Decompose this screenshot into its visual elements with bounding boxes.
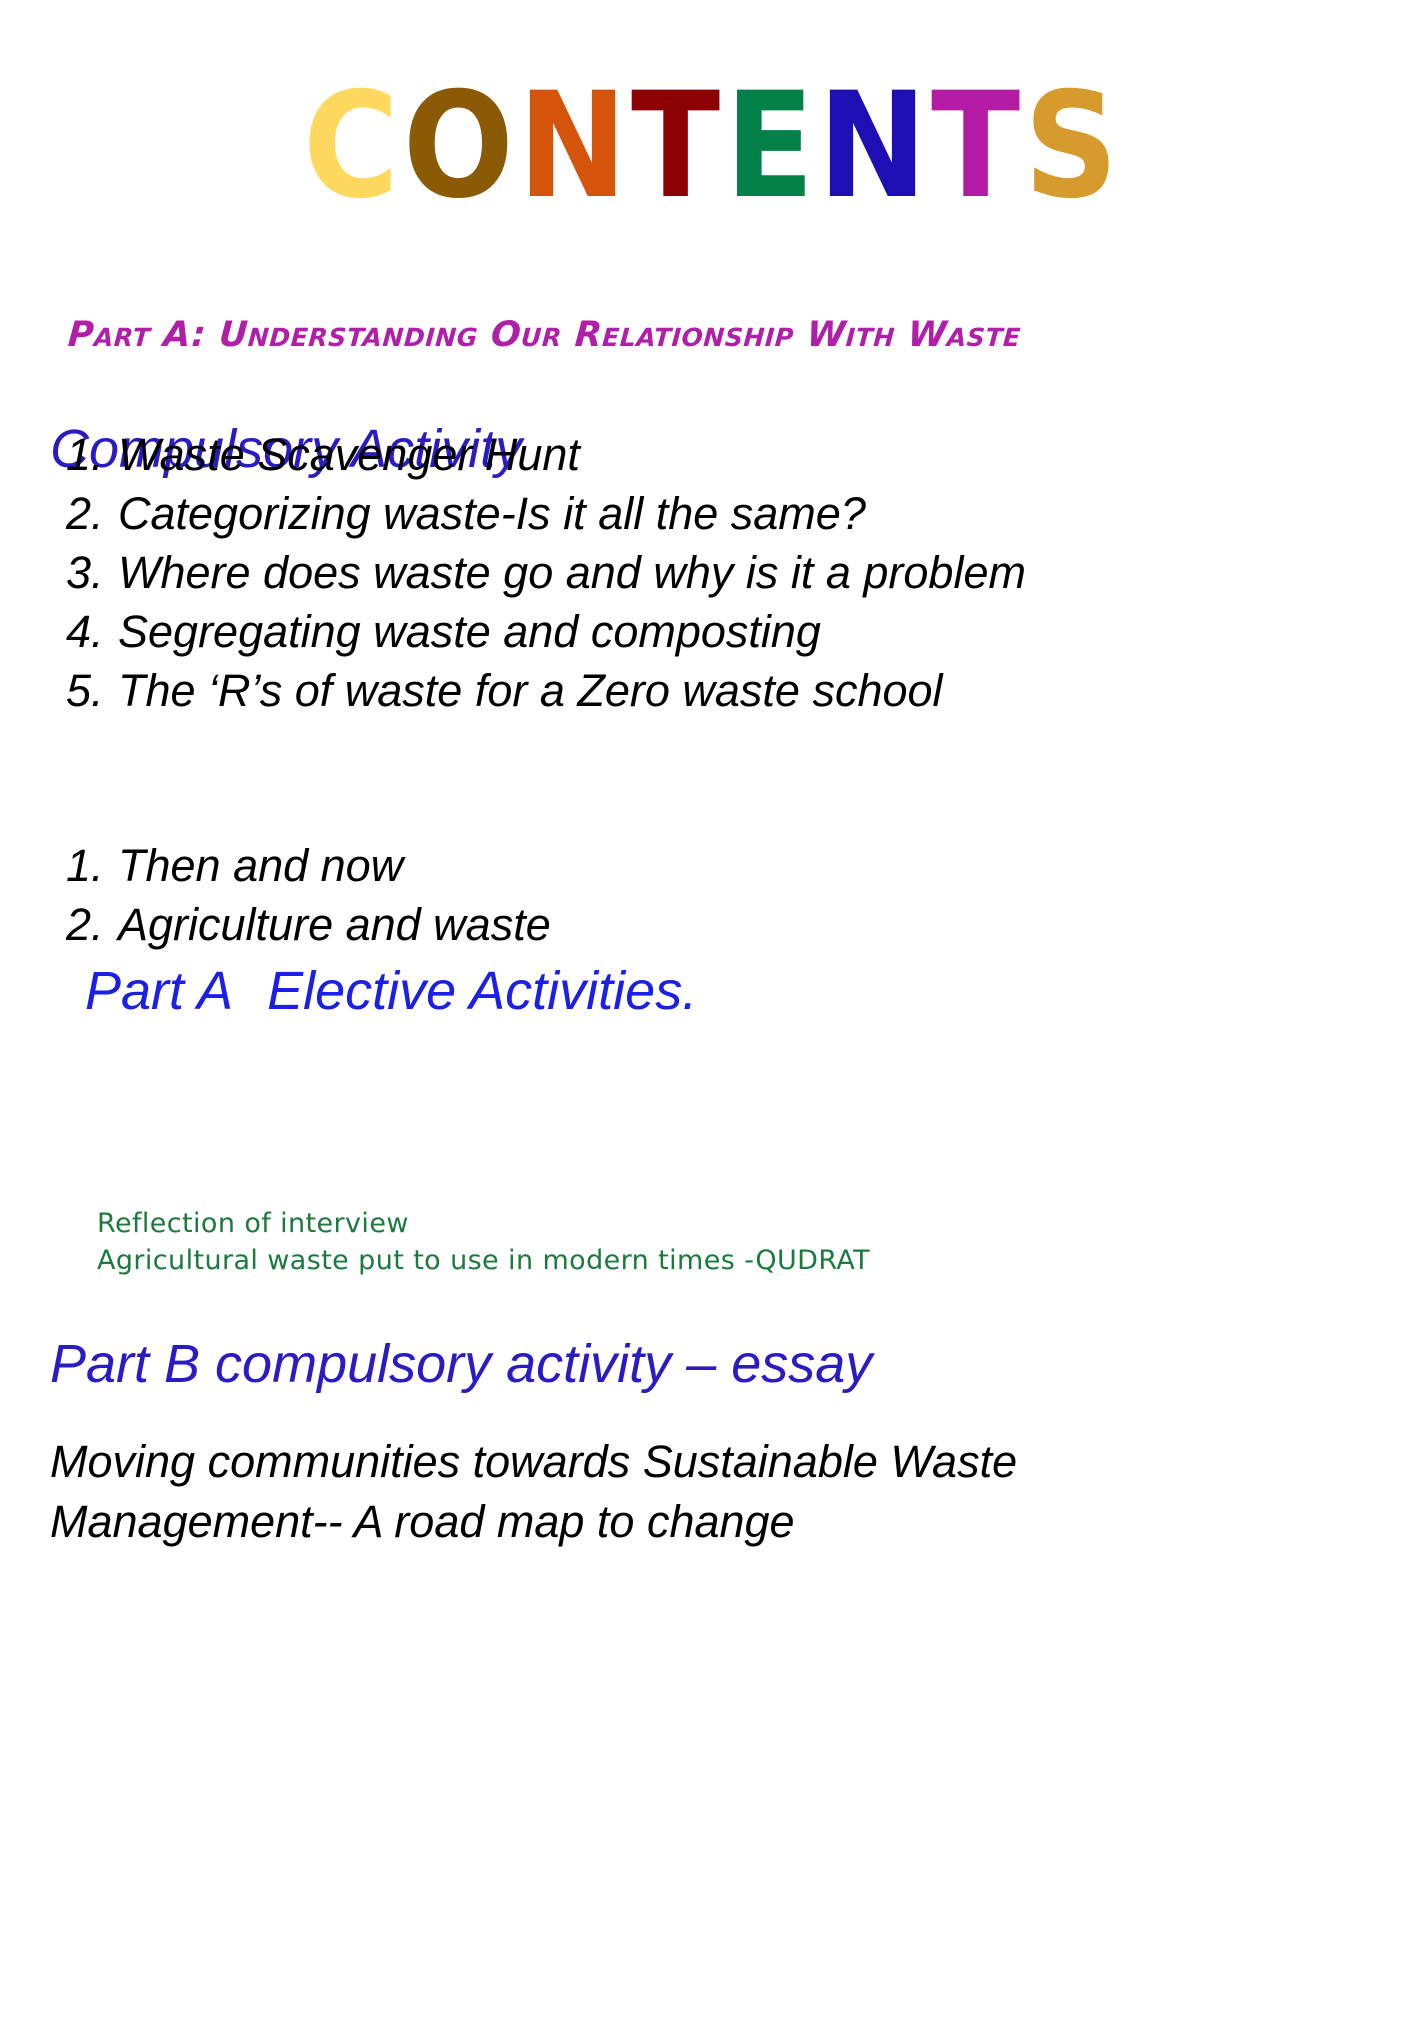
document-page: CONTENTS Part A: Understanding Our Relat… (0, 0, 1428, 2028)
handwritten-note-line-1: Reflection of interview (97, 1205, 870, 1242)
handwritten-note-line-2: Agricultural waste put to use in modern … (97, 1242, 870, 1279)
elective-item-number: 1. (66, 836, 118, 895)
heading-part-b-essay: Part B compulsory activity – essay (50, 1333, 872, 1395)
heading-part-a-elective: Part AElective Activities. (85, 960, 697, 1022)
compulsory-item-number: 2. (66, 484, 118, 543)
compulsory-item: 2.Categorizing waste-Is it all the same? (66, 484, 1026, 543)
page-title: CONTENTS (0, 74, 1428, 202)
title-letter-6: N (818, 74, 933, 220)
elective-item-label: Then and now (118, 836, 403, 895)
compulsory-item-label: The ‘R’s of waste for a Zero waste schoo… (118, 661, 943, 720)
elective-activity-list: 1.Then and now2.Agriculture and waste (66, 836, 551, 954)
compulsory-item-number: 1. (66, 425, 118, 484)
elective-item: 2.Agriculture and waste (66, 895, 551, 954)
elective-item: 1.Then and now (66, 836, 551, 895)
title-letter-1: C (303, 74, 405, 220)
elective-item-number: 2. (66, 895, 118, 954)
compulsory-item-label: Where does waste go and why is it a prob… (118, 543, 1026, 602)
essay-line-2: Management-- A road map to change (50, 1492, 1250, 1552)
compulsory-item-number: 5. (66, 661, 118, 720)
compulsory-item-number: 4. (66, 602, 118, 661)
compulsory-item: 5.The ‘R’s of waste for a Zero waste sch… (66, 661, 1026, 720)
essay-line-1: Moving communities towards Sustainable W… (50, 1432, 1250, 1492)
compulsory-item-label: Segregating waste and composting (118, 602, 821, 661)
compulsory-item-label: Waste Scavenger Hunt (118, 425, 580, 484)
compulsory-item: 4.Segregating waste and composting (66, 602, 1026, 661)
compulsory-item-number: 3. (66, 543, 118, 602)
title-letter-5: E (725, 74, 820, 220)
heading-elective-activities-label: Elective Activities. (267, 961, 697, 1021)
part-a-subtitle: Part A: Understanding Our Relationship w… (67, 315, 1390, 355)
compulsory-item: 3.Where does waste go and why is it a pr… (66, 543, 1026, 602)
title-letter-3: N (518, 74, 633, 220)
compulsory-item: 1.Waste Scavenger Hunt (66, 425, 1026, 484)
title-letter-8: S (1024, 74, 1124, 220)
title-letter-4: T (631, 74, 726, 220)
elective-item-label: Agriculture and waste (118, 895, 551, 954)
title-letter-2: O (403, 74, 520, 220)
title-letter-7: T (931, 74, 1026, 220)
compulsory-item-label: Categorizing waste-Is it all the same? (118, 484, 866, 543)
compulsory-activity-list: 1.Waste Scavenger Hunt2.Categorizing was… (66, 425, 1026, 720)
handwritten-notes: Reflection of interviewAgricultural wast… (97, 1205, 870, 1279)
heading-part-a-label: Part A (85, 961, 233, 1021)
essay-title-paragraph: Moving communities towards Sustainable W… (50, 1432, 1250, 1552)
